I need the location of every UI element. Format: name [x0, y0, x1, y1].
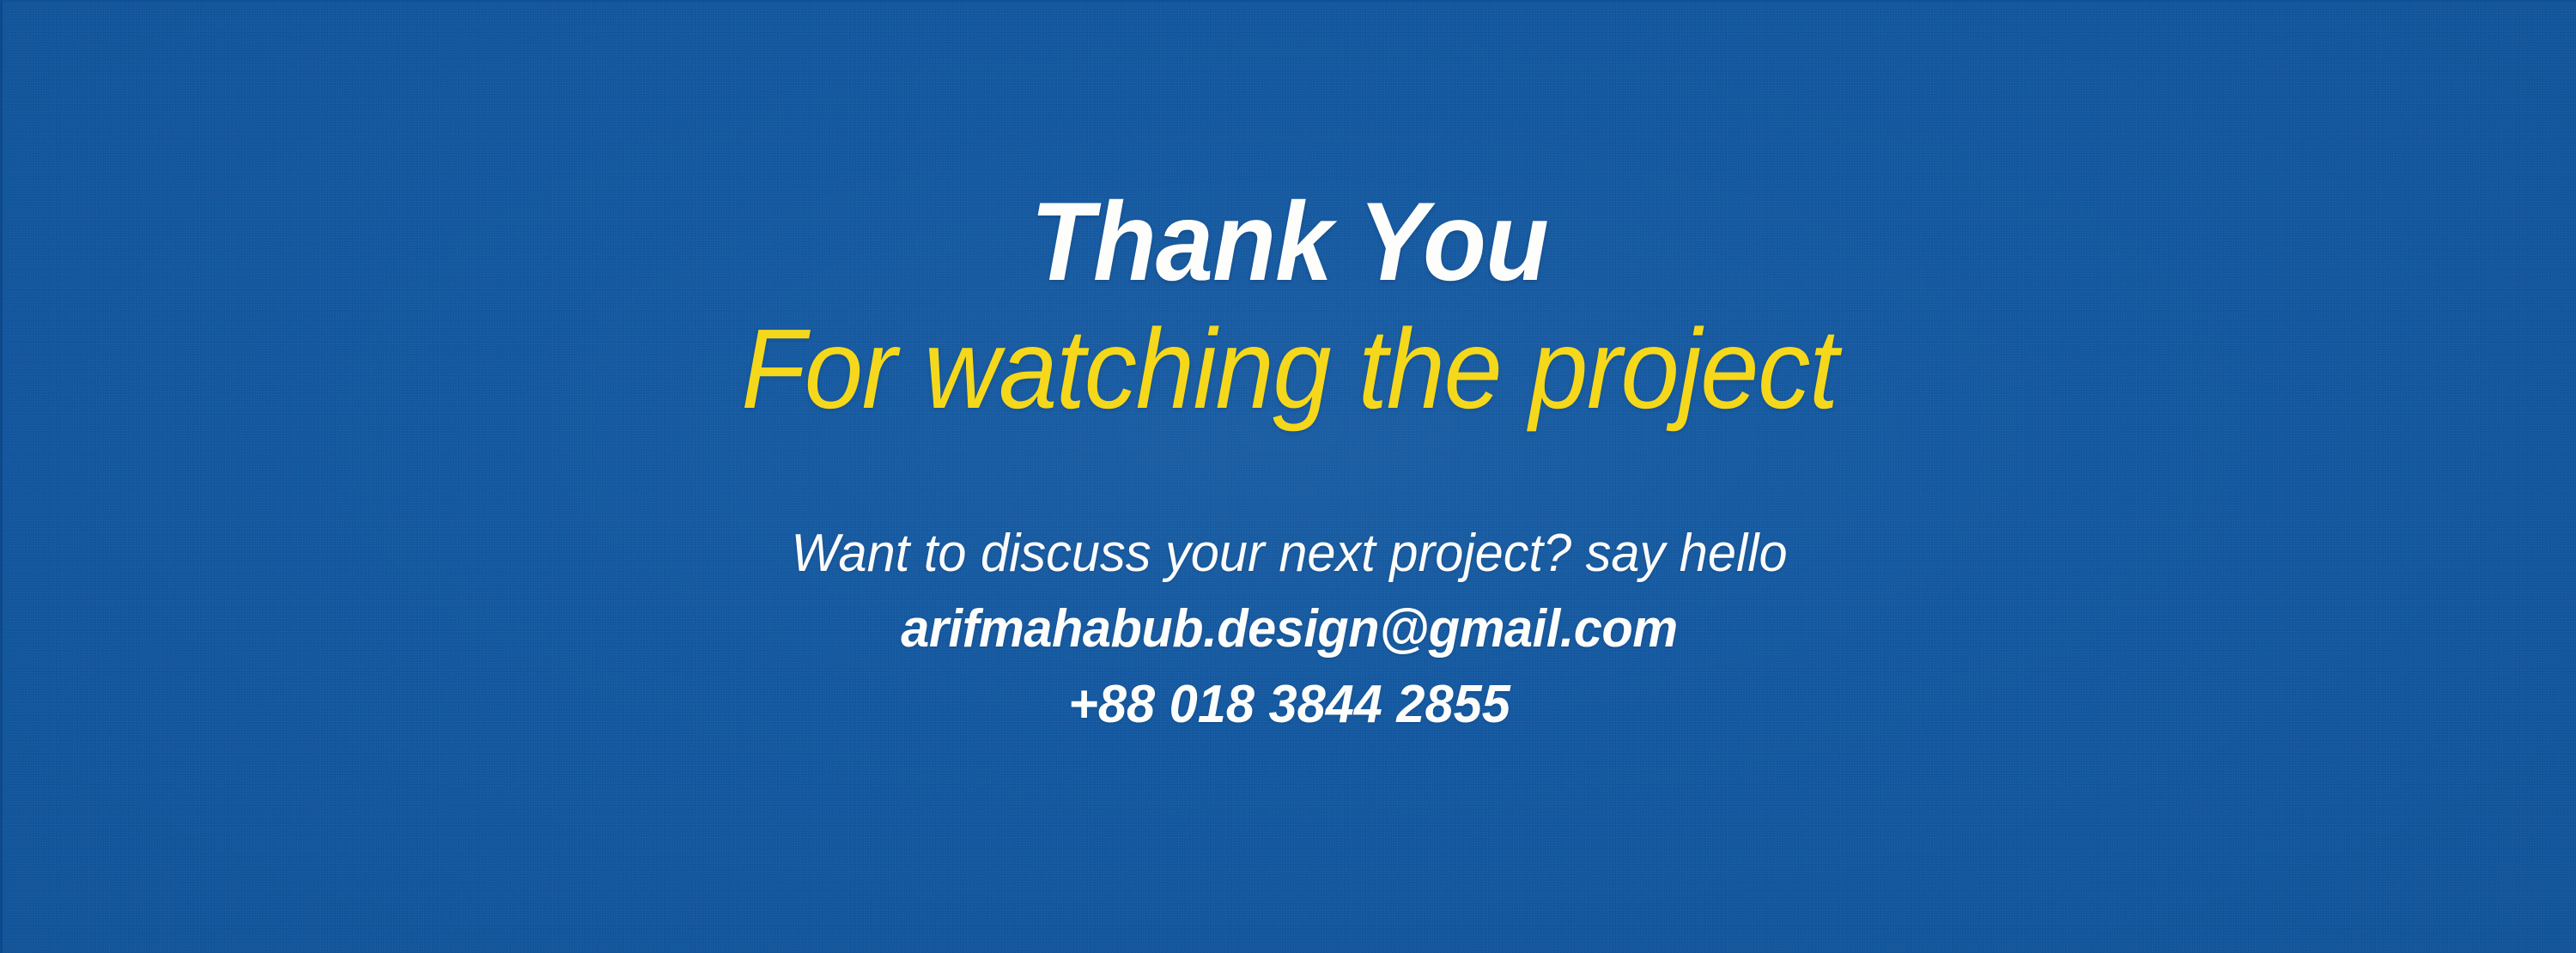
- contact-block: Want to discuss your next project? say h…: [3, 527, 2576, 731]
- headline-primary: Thank You: [93, 185, 2486, 297]
- contact-prompt: Want to discuss your next project? say h…: [54, 527, 2524, 580]
- headline-block: Thank You For watching the project: [3, 185, 2576, 426]
- contact-phone[interactable]: +88 018 3844 2855: [54, 678, 2524, 731]
- contact-email[interactable]: arifmahabub.design@gmail.com: [54, 603, 2524, 656]
- headline-secondary: For watching the project: [93, 313, 2486, 426]
- thank-you-slide: Thank You For watching the project Want …: [0, 0, 2576, 953]
- slide-content: Thank You For watching the project Want …: [3, 2, 2576, 953]
